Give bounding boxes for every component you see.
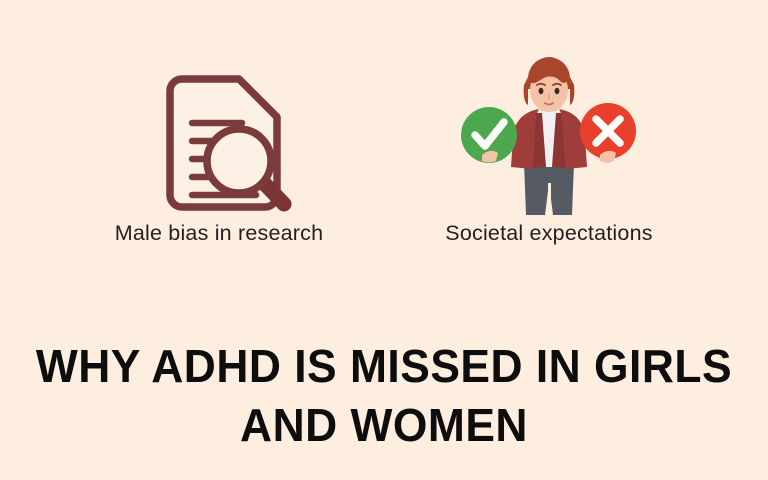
item-male-bias-in-research: Male bias in research <box>54 44 384 244</box>
item-artwork <box>144 55 294 215</box>
items-row: Male bias in research <box>0 44 768 244</box>
item-label-societal-expectations: Societal expectations <box>445 223 652 245</box>
page-title-line-1: WHY ADHD IS MISSED IN GIRLS <box>13 337 754 396</box>
item-artwork <box>456 55 642 215</box>
item-label-male-bias-in-research: Male bias in research <box>115 223 324 245</box>
infographic-canvas: Male bias in research <box>0 0 768 480</box>
document-magnifier-icon <box>144 65 294 215</box>
page-title: WHY ADHD IS MISSED IN GIRLS AND WOMEN <box>13 337 754 455</box>
page-title-line-2: AND WOMEN <box>13 396 754 455</box>
woman-holding-check-and-cross-icon <box>456 55 642 215</box>
item-societal-expectations: Societal expectations <box>384 44 714 244</box>
